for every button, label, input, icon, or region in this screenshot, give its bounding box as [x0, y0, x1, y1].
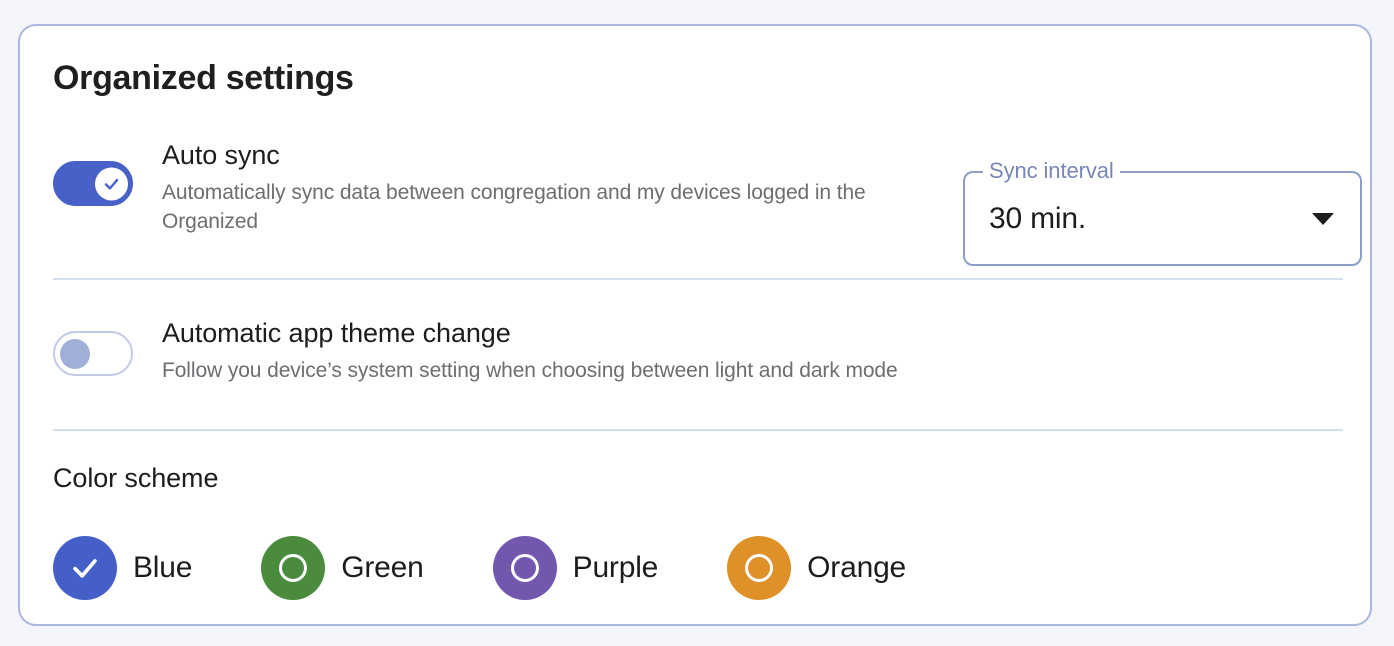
- color-label-purple: Purple: [573, 551, 659, 585]
- toggle-knob: [60, 339, 90, 369]
- color-option-purple[interactable]: Purple: [493, 536, 659, 600]
- color-swatch-orange[interactable]: [727, 536, 791, 600]
- radio-ring-icon: [511, 554, 539, 582]
- color-option-orange[interactable]: Orange: [727, 536, 906, 600]
- auto-theme-text: Automatic app theme change Follow you de…: [162, 313, 1343, 385]
- auto-sync-description: Automatically sync data between congrega…: [162, 178, 907, 236]
- chevron-down-icon[interactable]: [1312, 213, 1334, 225]
- toggle-knob: [95, 167, 128, 200]
- color-swatch-purple[interactable]: [493, 536, 557, 600]
- color-scheme-options: Blue Green Purple Orange: [53, 536, 906, 600]
- color-swatch-blue[interactable]: [53, 536, 117, 600]
- sync-interval-value: 30 min.: [989, 202, 1086, 236]
- color-swatch-green[interactable]: [261, 536, 325, 600]
- sync-interval-select[interactable]: Sync interval 30 min.: [963, 171, 1362, 266]
- color-label-green: Green: [341, 551, 423, 585]
- auto-theme-toggle[interactable]: [53, 331, 133, 376]
- check-icon: [68, 551, 102, 585]
- auto-theme-description: Follow you device’s system setting when …: [162, 356, 1262, 385]
- organized-settings-card: Organized settings Auto sync Automatical…: [18, 24, 1372, 626]
- auto-theme-title: Automatic app theme change: [162, 317, 1343, 350]
- sync-interval-label: Sync interval: [989, 160, 1114, 182]
- color-scheme-heading: Color scheme: [53, 463, 218, 494]
- check-icon: [102, 174, 121, 193]
- sync-interval-label-notch: Sync interval: [983, 159, 1120, 183]
- color-option-green[interactable]: Green: [261, 536, 423, 600]
- radio-ring-icon: [745, 554, 773, 582]
- color-label-orange: Orange: [807, 551, 906, 585]
- setting-row-auto-theme: Automatic app theme change Follow you de…: [53, 313, 1343, 385]
- color-label-blue: Blue: [133, 551, 192, 585]
- radio-ring-icon: [279, 554, 307, 582]
- divider: [53, 429, 1343, 431]
- auto-sync-title: Auto sync: [162, 139, 1343, 172]
- page-title: Organized settings: [53, 59, 354, 98]
- color-option-blue[interactable]: Blue: [53, 536, 192, 600]
- auto-sync-toggle[interactable]: [53, 161, 133, 206]
- divider: [53, 278, 1343, 280]
